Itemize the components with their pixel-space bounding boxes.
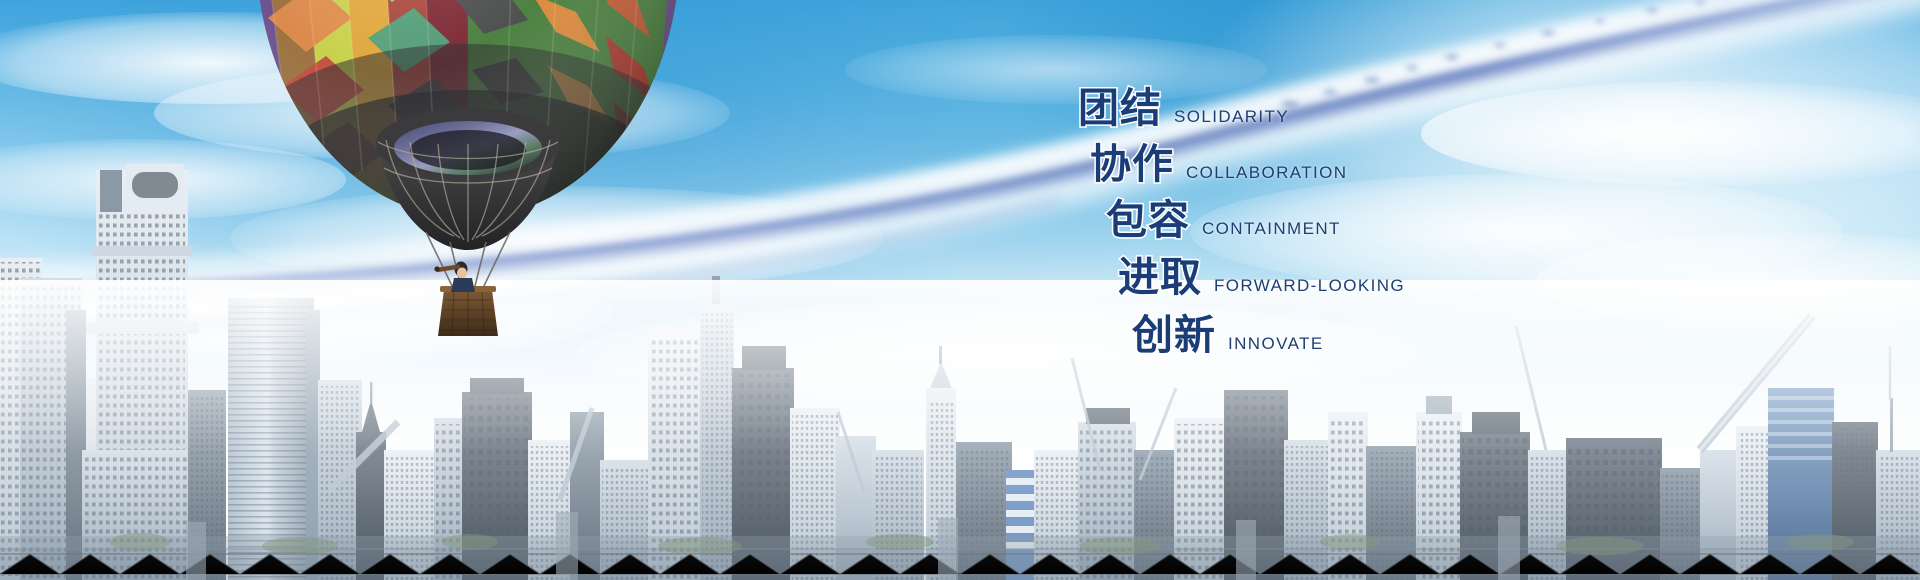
- slogan-en-collaboration: COLLABORATION: [1186, 164, 1347, 181]
- slogan-item-innovate: 创新 INNOVATE: [1132, 315, 1324, 356]
- slogan-item-collaboration: 协作 COLLABORATION: [1090, 144, 1347, 185]
- slogan-en-forward-looking: FORWARD-LOOKING: [1214, 277, 1405, 294]
- slogan-cn-forward-looking: 进取: [1118, 257, 1202, 298]
- slogan-item-containment: 包容 CONTAINMENT: [1106, 200, 1341, 241]
- slogan-cn-innovate: 创新: [1132, 315, 1216, 356]
- slogan-en-solidarity: SOLIDARITY: [1174, 108, 1289, 125]
- slogan-en-containment: CONTAINMENT: [1202, 220, 1341, 237]
- hot-air-balloon: [258, 0, 678, 350]
- slogan-cn-collaboration: 协作: [1090, 144, 1174, 185]
- slogan-en-innovate: INNOVATE: [1228, 335, 1324, 352]
- slogan-list: 团结 SOLIDARITY 协作 COLLABORATION 包容 CONTAI…: [1060, 80, 1480, 420]
- slogan-item-forward-looking: 进取 FORWARD-LOOKING: [1118, 257, 1405, 298]
- values-banner: 团结 SOLIDARITY 协作 COLLABORATION 包容 CONTAI…: [0, 0, 1920, 580]
- slogan-cn-containment: 包容: [1106, 200, 1190, 241]
- slogan-cn-solidarity: 团结: [1078, 88, 1162, 129]
- slogan-item-solidarity: 团结 SOLIDARITY: [1078, 88, 1289, 129]
